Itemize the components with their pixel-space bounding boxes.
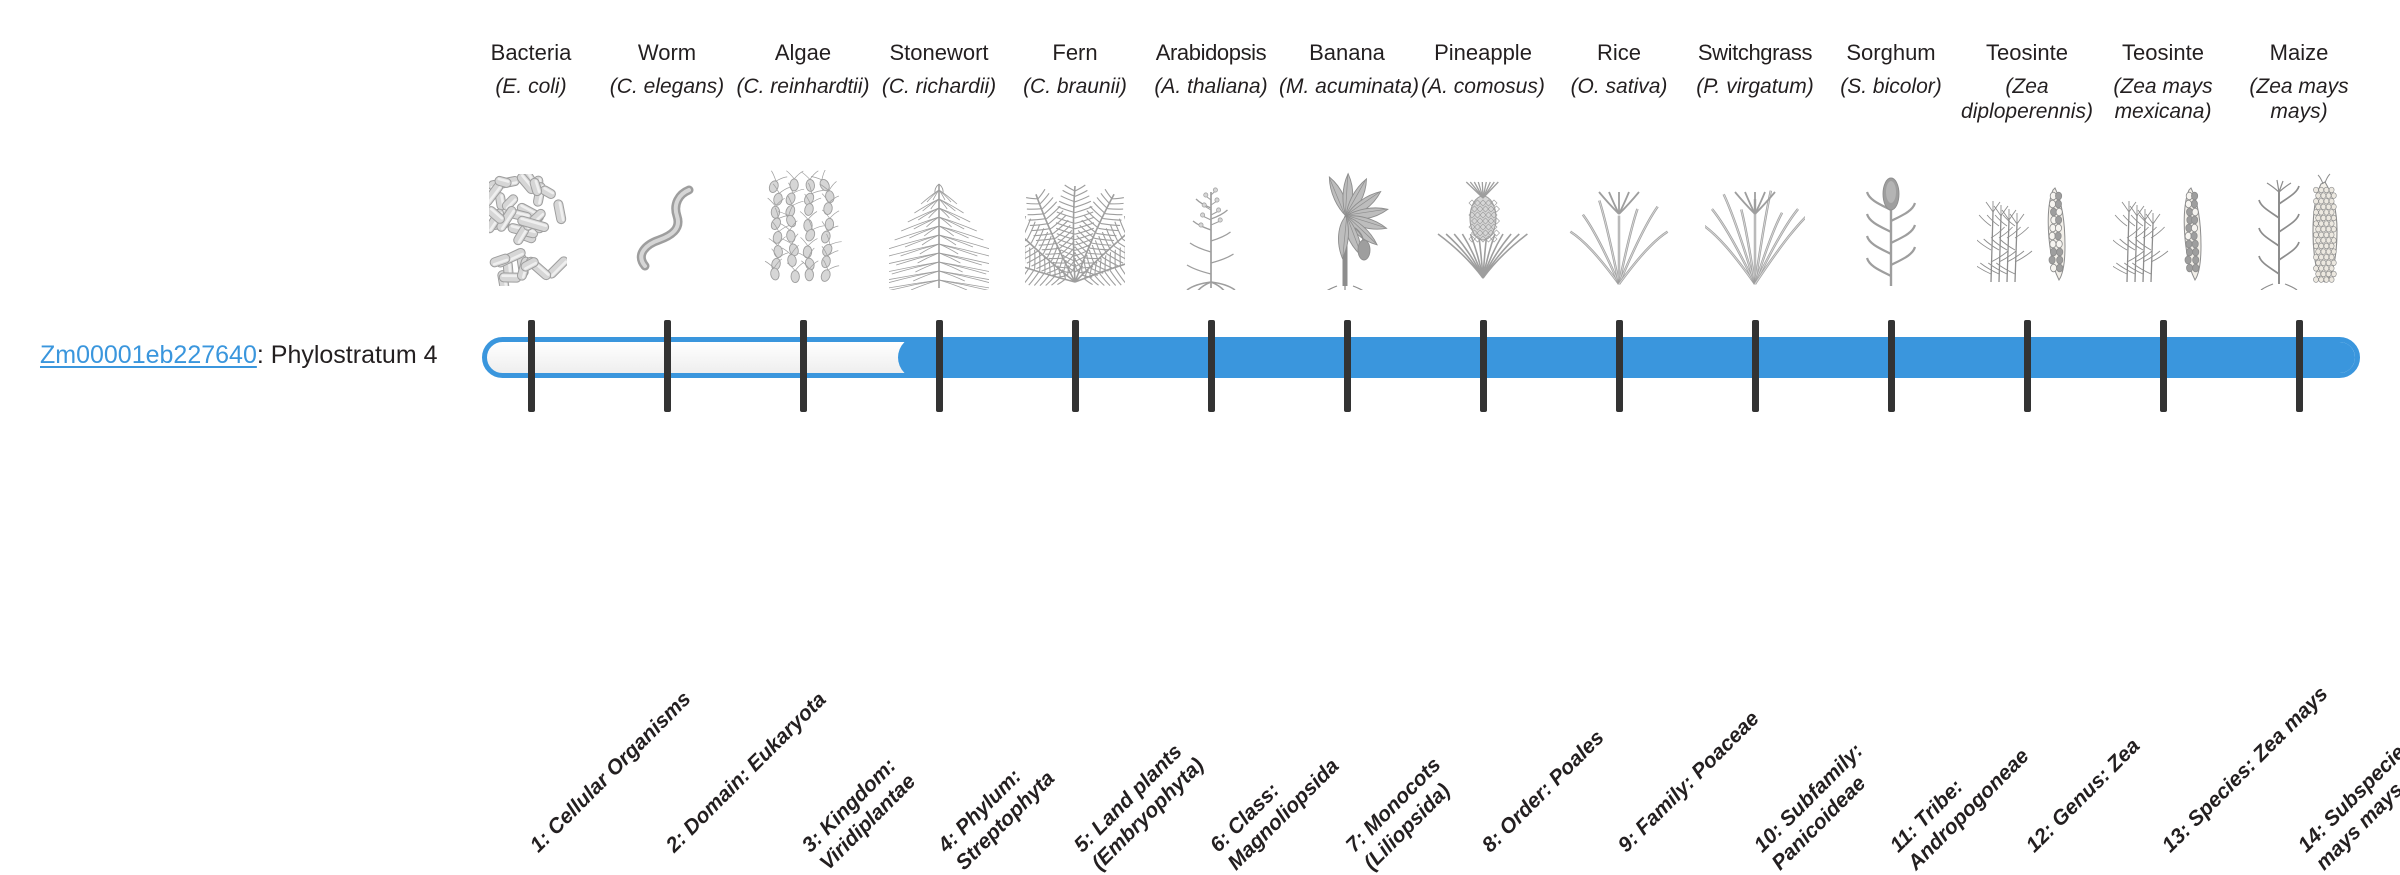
organism-common-name: Stonewort [871,40,1007,66]
organism-scientific-name: (S. bicolor) [1823,74,1959,99]
organism-common-name: Banana [1279,40,1415,66]
organism-common-name: Arabidopsis [1143,40,1279,66]
organism-column-10: Switchgrass(P. virgatum) [1687,0,1823,580]
phylostratum-tick-2[interactable] [664,320,671,412]
organism-common-name: Teosinte [2095,40,2231,66]
phylostratum-tick-4[interactable] [936,320,943,412]
organism-scientific-name: (Zea diploperennis) [1959,74,2095,124]
phylostratum-tick-14[interactable] [2296,320,2303,412]
organism-column-13: Teosinte(Zea mays mexicana) [2095,0,2231,580]
arabidopsis-icon [1161,170,1261,290]
organism-column-9: Rice(O. sativa) [1551,0,1687,580]
organism-scientific-name: (Zea mays mexicana) [2095,74,2231,124]
organism-column-14: Maize(Zea mays mays) [2231,0,2367,580]
organism-scientific-name: (C. braunii) [1007,74,1143,99]
phylostratum-tick-12[interactable] [2024,320,2031,412]
phylostratum-tick-7[interactable] [1344,320,1351,412]
organism-column-11: Sorghum(S. bicolor) [1823,0,1959,580]
organism-scientific-name: (C. elegans) [599,74,735,99]
phylostratum-tick-8[interactable] [1480,320,1487,412]
organism-column-6: Arabidopsis(A. thaliana) [1143,0,1279,580]
phylostratum-tick-5[interactable] [1072,320,1079,412]
organism-scientific-name: (M. acuminata) [1279,74,1415,99]
rice-icon [1569,170,1669,290]
organism-common-name: Teosinte [1959,40,2095,66]
pineapple-icon [1433,170,1533,290]
organism-common-name: Fern [1007,40,1143,66]
organism-column-3: Algae(C. reinhardtii) [735,0,871,580]
organism-scientific-name: (A. thaliana) [1143,74,1279,99]
organism-common-name: Worm [599,40,735,66]
phylostratum-columns: Bacteria(E. coli) [463,0,2331,580]
bacteria-icon [481,170,581,290]
worm-icon [617,170,717,290]
gene-id-link[interactable]: Zm00001eb227640 [40,341,257,369]
organism-common-name: Pineapple [1415,40,1551,66]
organism-column-4: Stonewort(C. richardii) [871,0,1007,580]
organism-common-name: Algae [735,40,871,66]
stonewort-icon [889,170,989,290]
organism-column-2: Worm(C. elegans) [599,0,735,580]
teosinte-mexicana-icon [2113,170,2213,290]
organism-scientific-name: (P. virgatum) [1687,74,1823,99]
organism-scientific-name: (Zea mays mays) [2231,74,2367,124]
phylostratum-tick-13[interactable] [2160,320,2167,412]
fern-icon [1025,170,1125,290]
phylostratum-figure: Zm00001eb227640: Phylostratum 4 Bacteria… [0,0,2400,580]
organism-common-name: Sorghum [1823,40,1959,66]
organism-scientific-name: (C. reinhardtii) [735,74,871,99]
maize-icon [2249,170,2349,290]
banana-icon [1297,170,1397,290]
phylostratum-tick-1[interactable] [528,320,535,412]
teosinte-diploperennis-icon [1977,170,2077,290]
organism-scientific-name: (E. coli) [463,74,599,99]
organism-column-7: Banana(M. acuminata) [1279,0,1415,580]
organism-scientific-name: (O. sativa) [1551,74,1687,99]
organism-common-name: Rice [1551,40,1687,66]
organism-column-8: Pineapple(A. comosus) [1415,0,1551,580]
phylostratum-tick-10[interactable] [1752,320,1759,412]
phylostratum-tick-3[interactable] [800,320,807,412]
phylostratum-value-label: Phylostratum 4 [271,341,438,369]
organism-common-name: Bacteria [463,40,599,66]
organism-scientific-name: (A. comosus) [1415,74,1551,99]
phylostratum-tick-9[interactable] [1616,320,1623,412]
phylostratum-tick-6[interactable] [1208,320,1215,412]
algae-icon [753,170,853,290]
sorghum-icon [1841,170,1941,290]
organism-common-name: Maize [2231,40,2367,66]
organism-column-1: Bacteria(E. coli) [463,0,599,580]
gene-phylostratum-label: Zm00001eb227640: Phylostratum 4 [40,340,438,370]
organism-common-name: Switchgrass [1687,40,1823,66]
organism-scientific-name: (C. richardii) [871,74,1007,99]
organism-column-12: Teosinte(Zea diploperennis) [1959,0,2095,580]
switchgrass-icon [1705,170,1805,290]
phylostratum-tick-11[interactable] [1888,320,1895,412]
gene-separator: : [257,341,271,369]
organism-column-5: Fern(C. braunii) [1007,0,1143,580]
